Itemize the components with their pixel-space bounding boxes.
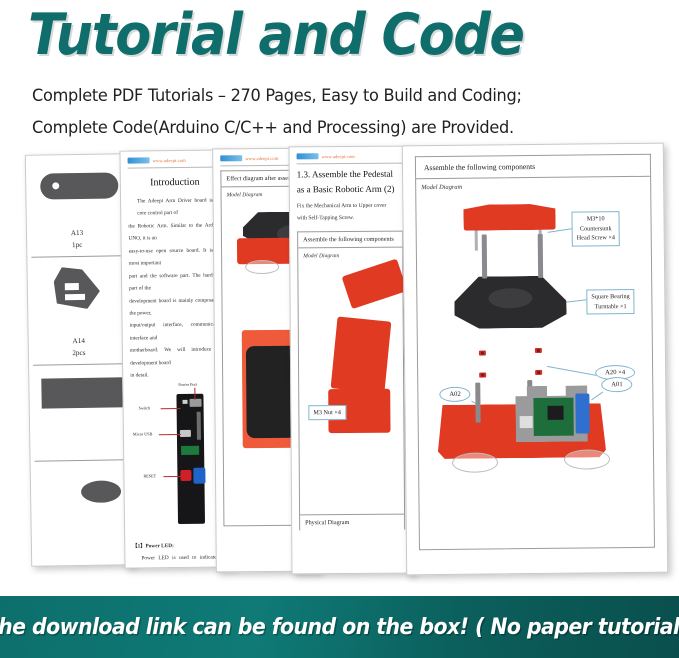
board-label-reset: RESET	[143, 473, 156, 478]
divider	[128, 166, 222, 168]
part-qty: 1pc	[72, 241, 83, 256]
adeept-logo-icon	[220, 155, 242, 161]
board-micro-usb	[180, 429, 191, 436]
intro-body-line: The Adeept Arm Driver board is the core …	[128, 194, 222, 220]
adeept-logo-icon	[128, 157, 150, 163]
turntable-callout-line: Turntable ×1	[591, 302, 629, 312]
nut-part	[479, 351, 486, 356]
turntable-callout-line: Square Bearing	[591, 292, 629, 302]
m3-nut-callout: M3 Nut ×4	[308, 405, 346, 421]
board-led	[182, 399, 187, 403]
board-pcb	[176, 393, 205, 523]
pedestal-table-header: Assemble the following components	[297, 230, 403, 247]
footer-banner: The download link can be found on the bo…	[0, 596, 679, 658]
support-post	[538, 234, 543, 278]
part-shape-bar	[41, 377, 125, 408]
red-arm-part	[331, 316, 392, 393]
board-green-module	[181, 445, 199, 454]
screw-callout-line: Countersunk	[577, 224, 615, 234]
pedestal-body-line: Fix the Mechanical Arm to Upper cover	[297, 201, 403, 213]
arduino-black-chip	[547, 406, 563, 420]
square-bearing-turntable	[454, 276, 567, 329]
subtitle-block: Complete PDF Tutorials – 270 Pages, Easy…	[28, 80, 679, 145]
screw-callout-line: M3*10	[576, 214, 614, 224]
assembly-table-body: Model Diagram M3*10 Countersunk Head Scr…	[415, 176, 655, 550]
nut-part	[479, 373, 486, 378]
part-qty: 2pcs	[72, 349, 85, 364]
turntable-callout: Square Bearing Turntable ×1	[586, 289, 635, 315]
support-post	[482, 234, 487, 278]
screw-callout: M3*10 Countersunk Head Screw ×4	[571, 211, 620, 246]
support-post	[475, 383, 480, 423]
pedestal-heading-line1: 1.3. Assemble the Pedestal	[297, 168, 403, 181]
suction-foot	[564, 449, 610, 469]
adeept-logo-icon	[297, 153, 319, 159]
header: Tutorial and Code Complete PDF Tutorials…	[0, 0, 679, 144]
brand-url: www.adeept.com	[245, 155, 278, 160]
brand-url: www.adeept.com	[153, 157, 186, 162]
pedestal-body-line: with Self-Tapping Screw.	[297, 213, 403, 225]
red-upper-plate	[463, 204, 555, 231]
intro-body-line: easy-to-use open source board. It is the…	[129, 244, 223, 270]
a01-bubble: A01	[601, 377, 633, 392]
intro-body-line: in detail.	[130, 369, 224, 383]
note-line: Power LED is used to indicate the power …	[132, 551, 226, 568]
part-cell: A13 1pc	[30, 158, 124, 257]
screw-callout-line: Head Screw ×4	[577, 233, 615, 243]
intro-body-line: the Robotic Arm. Similar to the Arduino …	[128, 219, 222, 245]
part-cell	[35, 460, 128, 557]
footer-text: The download link can be found on the bo…	[0, 615, 679, 640]
leader-line	[163, 476, 181, 477]
leader-line	[547, 366, 596, 376]
physical-diagram-header: Physical Diagram	[299, 514, 405, 530]
tutorial-page-parts: A13 1pc A14 2pcs	[25, 153, 133, 567]
board-label-power-port: Power Port	[178, 381, 197, 386]
tutorial-page-pedestal: www.adeept.com 1.3. Assemble the Pedesta…	[289, 146, 414, 575]
a02-bubble: A02	[439, 387, 471, 402]
driver-board-diagram: Power Port Switch Micro USB RESET	[130, 385, 226, 536]
red-part-top	[342, 258, 408, 309]
board-blue-module	[193, 467, 205, 483]
intro-heading: Introduction	[128, 176, 222, 188]
assembly-table-header: Assemble the following components	[415, 154, 651, 178]
intro-notes: 【1】Power LED: Power LED is used to indic…	[132, 539, 227, 569]
leader-line	[566, 299, 588, 303]
pedestal-illustration: M3 Nut ×4	[303, 258, 399, 505]
part-code: A14	[72, 337, 85, 349]
leader-line	[194, 387, 195, 399]
intro-body-line: part and the software part. The hardware…	[129, 269, 223, 295]
note-power-led-title: 【1】Power LED:	[132, 539, 226, 553]
intro-body-line: motherboard. We will introduce the devel…	[130, 344, 224, 370]
arduino-usb-port	[520, 416, 533, 428]
arduino-blue-connector	[575, 393, 589, 433]
brand-bar: www.adeept.com	[297, 153, 403, 160]
leader-line	[591, 392, 603, 401]
intro-body-line: development board is mainly composed of …	[129, 294, 223, 320]
pedestal-heading-line2: as a Basic Robotic Arm (2)	[297, 182, 403, 195]
nut-part	[535, 370, 542, 375]
intro-body-line: input/output interface, communication in…	[130, 319, 224, 345]
board-power-port	[189, 398, 201, 406]
page-title: Tutorial and Code	[28, 6, 627, 66]
board-label-micro-usb: Micro USB	[133, 431, 152, 436]
suction-foot	[245, 260, 279, 274]
board-reset-button	[180, 469, 191, 480]
pedestal-table-body: Model Diagram M3 Nut ×4	[297, 246, 405, 515]
board-pin-strip	[197, 411, 201, 439]
suction-foot	[452, 452, 498, 472]
part-cell	[33, 364, 126, 461]
brand-bar: www.adeept.com	[128, 156, 222, 163]
brand-url: www.adeept.com	[322, 153, 355, 158]
part-cell: A14 2pcs	[31, 256, 125, 365]
divider	[297, 163, 403, 165]
part-shape-lever	[40, 172, 118, 199]
board-label-switch: Switch	[139, 405, 151, 410]
assembly-illustration: M3*10 Countersunk Head Screw ×4 Square B…	[421, 189, 648, 521]
subtitle-line-1: Complete PDF Tutorials – 270 Pages, Easy…	[32, 80, 647, 112]
part-shape-oval	[81, 480, 121, 503]
part-shape-bracket	[54, 267, 101, 310]
intro-body: The Adeept Arm Driver board is the core …	[128, 194, 224, 382]
tutorial-pages-stage: A13 1pc A14 2pcs www.adeept.com	[0, 140, 679, 590]
nut-part	[535, 348, 542, 353]
part-code: A13	[71, 229, 84, 241]
tutorial-page-assembly: Assemble the following components Model …	[402, 143, 668, 576]
